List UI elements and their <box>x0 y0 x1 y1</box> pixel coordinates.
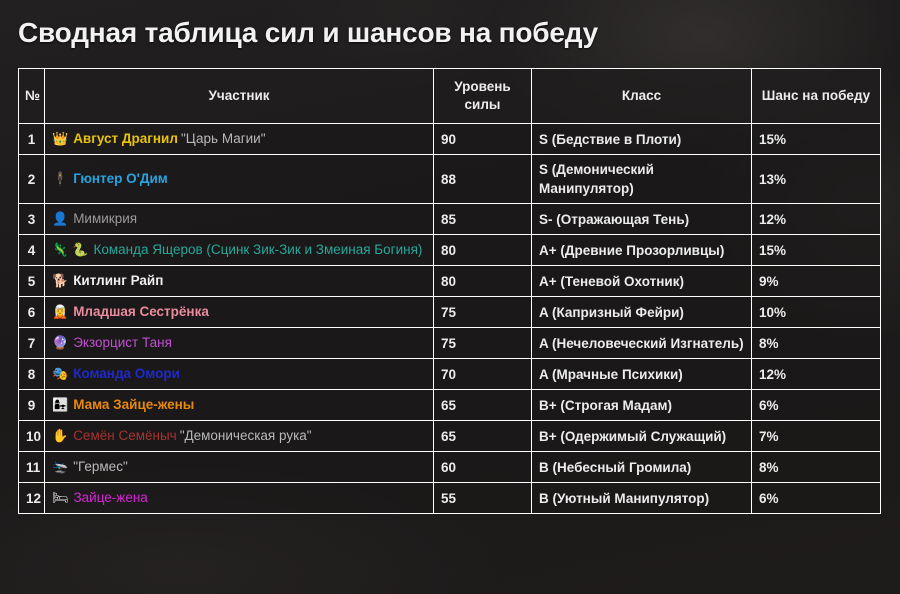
win-chance-value: 15% <box>752 235 881 266</box>
page-title: Сводная таблица сил и шансов на победу <box>0 0 900 50</box>
row-number: 1 <box>19 124 45 155</box>
participant-name: Мама Зайце-жены <box>73 397 194 412</box>
power-level-value: 75 <box>434 328 532 359</box>
woman-and-girl-icon: 👩‍👧 <box>52 398 68 413</box>
participant-name: Мимикрия <box>73 211 137 226</box>
row-number: 7 <box>19 328 45 359</box>
table-row: 9👩‍👧Мама Зайце-жены65B+ (Строгая Мадам)6… <box>19 390 881 421</box>
participant-cell: 👤Мимикрия <box>45 204 434 235</box>
table-row: 2🕴Гюнтер О'Дим88S (Демонический Манипуля… <box>19 155 881 204</box>
table-row: 4🦎 🐍Команда Ящеров (Сцинк Зик-Зик и Змеи… <box>19 235 881 266</box>
table-row: 5🐕Китлинг Райп80A+ (Теневой Охотник)9% <box>19 266 881 297</box>
class-value: A+ (Теневой Охотник) <box>532 266 752 297</box>
power-level-value: 75 <box>434 297 532 328</box>
participant-cell: 🕴Гюнтер О'Дим <box>45 155 434 204</box>
win-chance-value: 15% <box>752 124 881 155</box>
power-level-value: 65 <box>434 421 532 452</box>
performing-arts-icon: 🎭 <box>52 367 68 382</box>
participant-cell: 🧝Младшая Сестрёнка <box>45 297 434 328</box>
participant-name: Гюнтер О'Дим <box>73 171 168 186</box>
row-number: 4 <box>19 235 45 266</box>
table-row: 3👤Мимикрия85S- (Отражающая Тень)12% <box>19 204 881 235</box>
row-number: 8 <box>19 359 45 390</box>
participant-name: Младшая Сестрёнка <box>73 304 209 319</box>
participant-cell: 🐕Китлинг Райп <box>45 266 434 297</box>
row-number: 10 <box>19 421 45 452</box>
participant-epithet: "Гермес" <box>73 459 128 474</box>
participant-cell: 👩‍👧Мама Зайце-жены <box>45 390 434 421</box>
participant-name: Китлинг Райп <box>73 273 163 288</box>
row-number: 12 <box>19 483 45 514</box>
power-level-value: 90 <box>434 124 532 155</box>
class-value: S (Демонический Манипулятор) <box>532 155 752 204</box>
win-chance-value: 9% <box>752 266 881 297</box>
participant-name: Экзорцист Таня <box>73 335 172 350</box>
power-level-value: 80 <box>434 266 532 297</box>
class-value: A (Мрачные Психики) <box>532 359 752 390</box>
class-value: A (Капризный Фейри) <box>532 297 752 328</box>
crystal-ball-icon: 🔮 <box>52 336 68 351</box>
participant-name: Команда Ящеров (Сцинк Зик-Зик и Змеиная … <box>94 242 423 257</box>
win-chance-value: 6% <box>752 483 881 514</box>
power-level-value: 55 <box>434 483 532 514</box>
participant-cell: 🦎 🐍Команда Ящеров (Сцинк Зик-Зик и Змеин… <box>45 235 434 266</box>
participant-name: Зайце-жена <box>74 490 148 505</box>
class-value: A (Нечеловеческий Изгнатель) <box>532 328 752 359</box>
class-value: B+ (Одержимый Служащий) <box>532 421 752 452</box>
participant-name: Август Драгнил <box>73 131 178 146</box>
participant-name: Семён Семёныч <box>73 428 177 443</box>
page-container: Сводная таблица сил и шансов на победу №… <box>0 0 900 514</box>
suspended-person-icon: 🕴 <box>52 172 68 187</box>
power-level-value: 80 <box>434 235 532 266</box>
table-row: 1👑Август Драгнил"Царь Магии"90S (Бедстви… <box>19 124 881 155</box>
header-power-level: Уровень силы <box>434 69 532 124</box>
row-number: 6 <box>19 297 45 328</box>
class-value: B (Уютный Манипулятор) <box>532 483 752 514</box>
header-class: Класс <box>532 69 752 124</box>
row-number: 9 <box>19 390 45 421</box>
header-participant: Участник <box>45 69 434 124</box>
class-value: B+ (Строгая Мадам) <box>532 390 752 421</box>
bed-icon: 🛏 <box>52 491 69 506</box>
lizard-icon: 🦎 🐍 <box>52 243 89 258</box>
win-chance-value: 8% <box>752 328 881 359</box>
table-container: № Участник Уровень силы Класс Шанс на по… <box>0 50 900 514</box>
win-chance-value: 13% <box>752 155 881 204</box>
row-number: 3 <box>19 204 45 235</box>
table-row: 11🛬"Гермес"60B (Небесный Громила)8% <box>19 452 881 483</box>
ranking-table: № Участник Уровень силы Класс Шанс на по… <box>18 68 881 514</box>
header-num: № <box>19 69 45 124</box>
participant-cell: ✋Семён Семёныч"Демоническая рука" <box>45 421 434 452</box>
participant-epithet: "Демоническая рука" <box>180 428 312 443</box>
power-level-value: 65 <box>434 390 532 421</box>
header-win-chance: Шанс на победу <box>752 69 881 124</box>
power-level-value: 88 <box>434 155 532 204</box>
participant-cell: 🎭Команда Омори <box>45 359 434 390</box>
win-chance-value: 6% <box>752 390 881 421</box>
class-value: A+ (Древние Прозорливцы) <box>532 235 752 266</box>
win-chance-value: 10% <box>752 297 881 328</box>
win-chance-value: 7% <box>752 421 881 452</box>
table-row: 6🧝Младшая Сестрёнка75A (Капризный Фейри)… <box>19 297 881 328</box>
row-number: 11 <box>19 452 45 483</box>
power-level-value: 70 <box>434 359 532 390</box>
dog-icon: 🐕 <box>52 274 68 289</box>
participant-name: Команда Омори <box>73 366 180 381</box>
win-chance-value: 8% <box>752 452 881 483</box>
raised-hand-icon: ✋ <box>52 429 68 444</box>
crown-icon: 👑 <box>52 132 68 147</box>
class-value: S (Бедствие в Плоти) <box>532 124 752 155</box>
airplane-arrival-icon: 🛬 <box>52 460 68 475</box>
win-chance-value: 12% <box>752 204 881 235</box>
participant-cell: 🔮Экзорцист Таня <box>45 328 434 359</box>
bust-silhouette-icon: 👤 <box>52 212 68 227</box>
row-number: 5 <box>19 266 45 297</box>
table-header: № Участник Уровень силы Класс Шанс на по… <box>19 69 881 124</box>
participant-cell: 👑Август Драгнил"Царь Магии" <box>45 124 434 155</box>
table-body: 1👑Август Драгнил"Царь Магии"90S (Бедстви… <box>19 124 881 514</box>
participant-cell: 🛬"Гермес" <box>45 452 434 483</box>
row-number: 2 <box>19 155 45 204</box>
participant-cell: 🛏Зайце-жена <box>45 483 434 514</box>
table-row: 10✋Семён Семёныч"Демоническая рука"65B+ … <box>19 421 881 452</box>
table-row: 8🎭Команда Омори70A (Мрачные Психики)12% <box>19 359 881 390</box>
elf-icon: 🧝 <box>52 305 68 320</box>
table-row: 7🔮Экзорцист Таня75A (Нечеловеческий Изгн… <box>19 328 881 359</box>
class-value: S- (Отражающая Тень) <box>532 204 752 235</box>
header-row: № Участник Уровень силы Класс Шанс на по… <box>19 69 881 124</box>
table-row: 12🛏Зайце-жена55B (Уютный Манипулятор)6% <box>19 483 881 514</box>
class-value: B (Небесный Громила) <box>532 452 752 483</box>
participant-epithet: "Царь Магии" <box>181 131 266 146</box>
power-level-value: 85 <box>434 204 532 235</box>
win-chance-value: 12% <box>752 359 881 390</box>
power-level-value: 60 <box>434 452 532 483</box>
